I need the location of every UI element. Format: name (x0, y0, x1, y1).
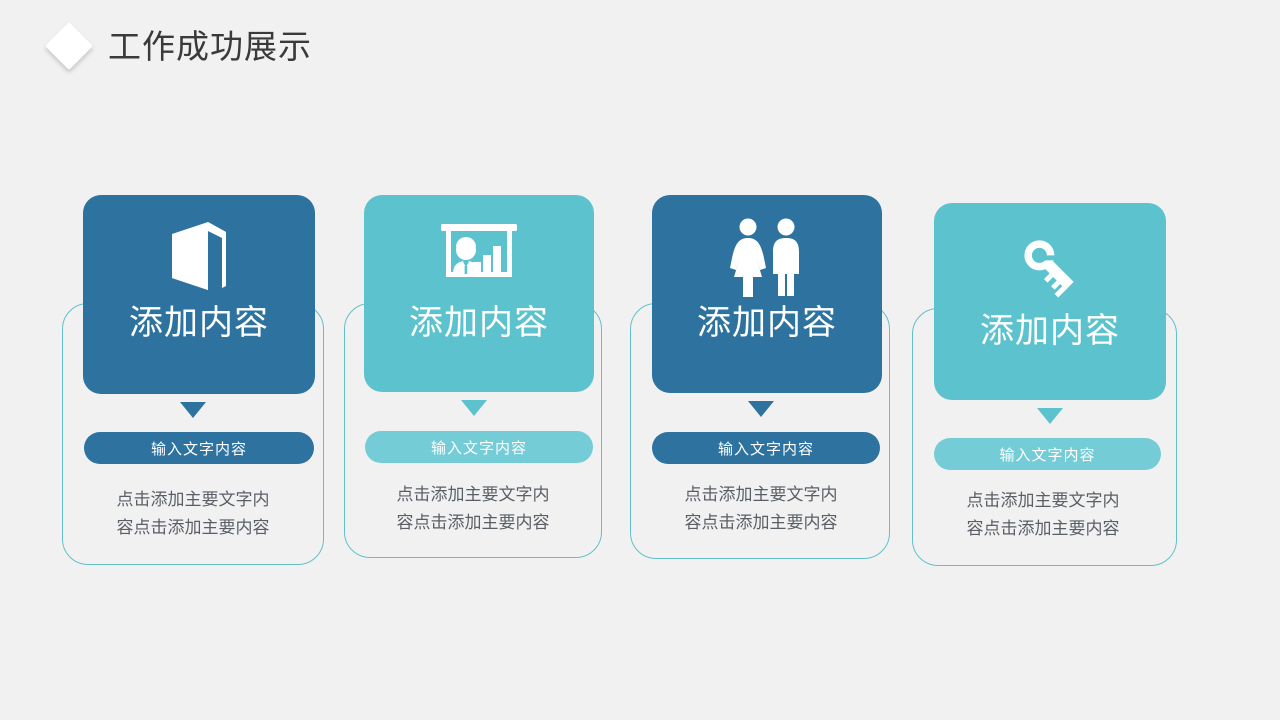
column-body-text: 点击添加主要文字内 容点击添加主要内容 (72, 486, 314, 542)
down-arrow-icon (461, 400, 487, 416)
column-pill-button[interactable]: 输入文字内容 (652, 432, 880, 464)
column-heading: 添加内容 (129, 305, 269, 342)
column-heading: 添加内容 (409, 305, 549, 342)
column-pill-label: 输入文字内容 (431, 437, 527, 458)
people-male-female-icon (728, 221, 806, 295)
column-pill-button[interactable]: 输入文字内容 (365, 431, 593, 463)
column-pill-button[interactable]: 输入文字内容 (934, 438, 1161, 470)
column-body-line-1: 点击添加主要文字内 (922, 487, 1164, 515)
column-pill-label: 输入文字内容 (999, 444, 1095, 465)
column-body-line-2: 容点击添加主要内容 (640, 509, 882, 537)
column-body-text: 点击添加主要文字内 容点击添加主要内容 (922, 487, 1164, 543)
down-arrow-icon (180, 402, 206, 418)
column-body-line-2: 容点击添加主要内容 (352, 509, 594, 537)
column-body-line-1: 点击添加主要文字内 (640, 481, 882, 509)
presentation-chart-icon (439, 221, 519, 295)
column-pill-label: 输入文字内容 (151, 438, 247, 459)
down-arrow-icon (748, 401, 774, 417)
column-body-text: 点击添加主要文字内 容点击添加主要内容 (352, 481, 594, 537)
key-icon (1014, 229, 1086, 303)
column-pill-label: 输入文字内容 (718, 438, 814, 459)
column-pill-button[interactable]: 输入文字内容 (84, 432, 314, 464)
column-head-card[interactable]: 添加内容 (83, 195, 315, 394)
feature-columns: 添加内容 输入文字内容 点击添加主要文字内 容点击添加主要内容 (0, 0, 1280, 720)
column-body-text: 点击添加主要文字内 容点击添加主要内容 (640, 481, 882, 537)
column-body-line-1: 点击添加主要文字内 (72, 486, 314, 514)
book-icon (164, 221, 234, 295)
column-heading: 添加内容 (697, 305, 837, 342)
column-head-card[interactable]: 添加内容 (364, 195, 594, 392)
down-arrow-icon (1037, 408, 1063, 424)
column-head-card[interactable]: 添加内容 (934, 203, 1166, 400)
column-head-card[interactable]: 添加内容 (652, 195, 882, 393)
column-body-line-2: 容点击添加主要内容 (72, 514, 314, 542)
column-body-line-1: 点击添加主要文字内 (352, 481, 594, 509)
column-heading: 添加内容 (980, 313, 1120, 350)
column-body-line-2: 容点击添加主要内容 (922, 515, 1164, 543)
